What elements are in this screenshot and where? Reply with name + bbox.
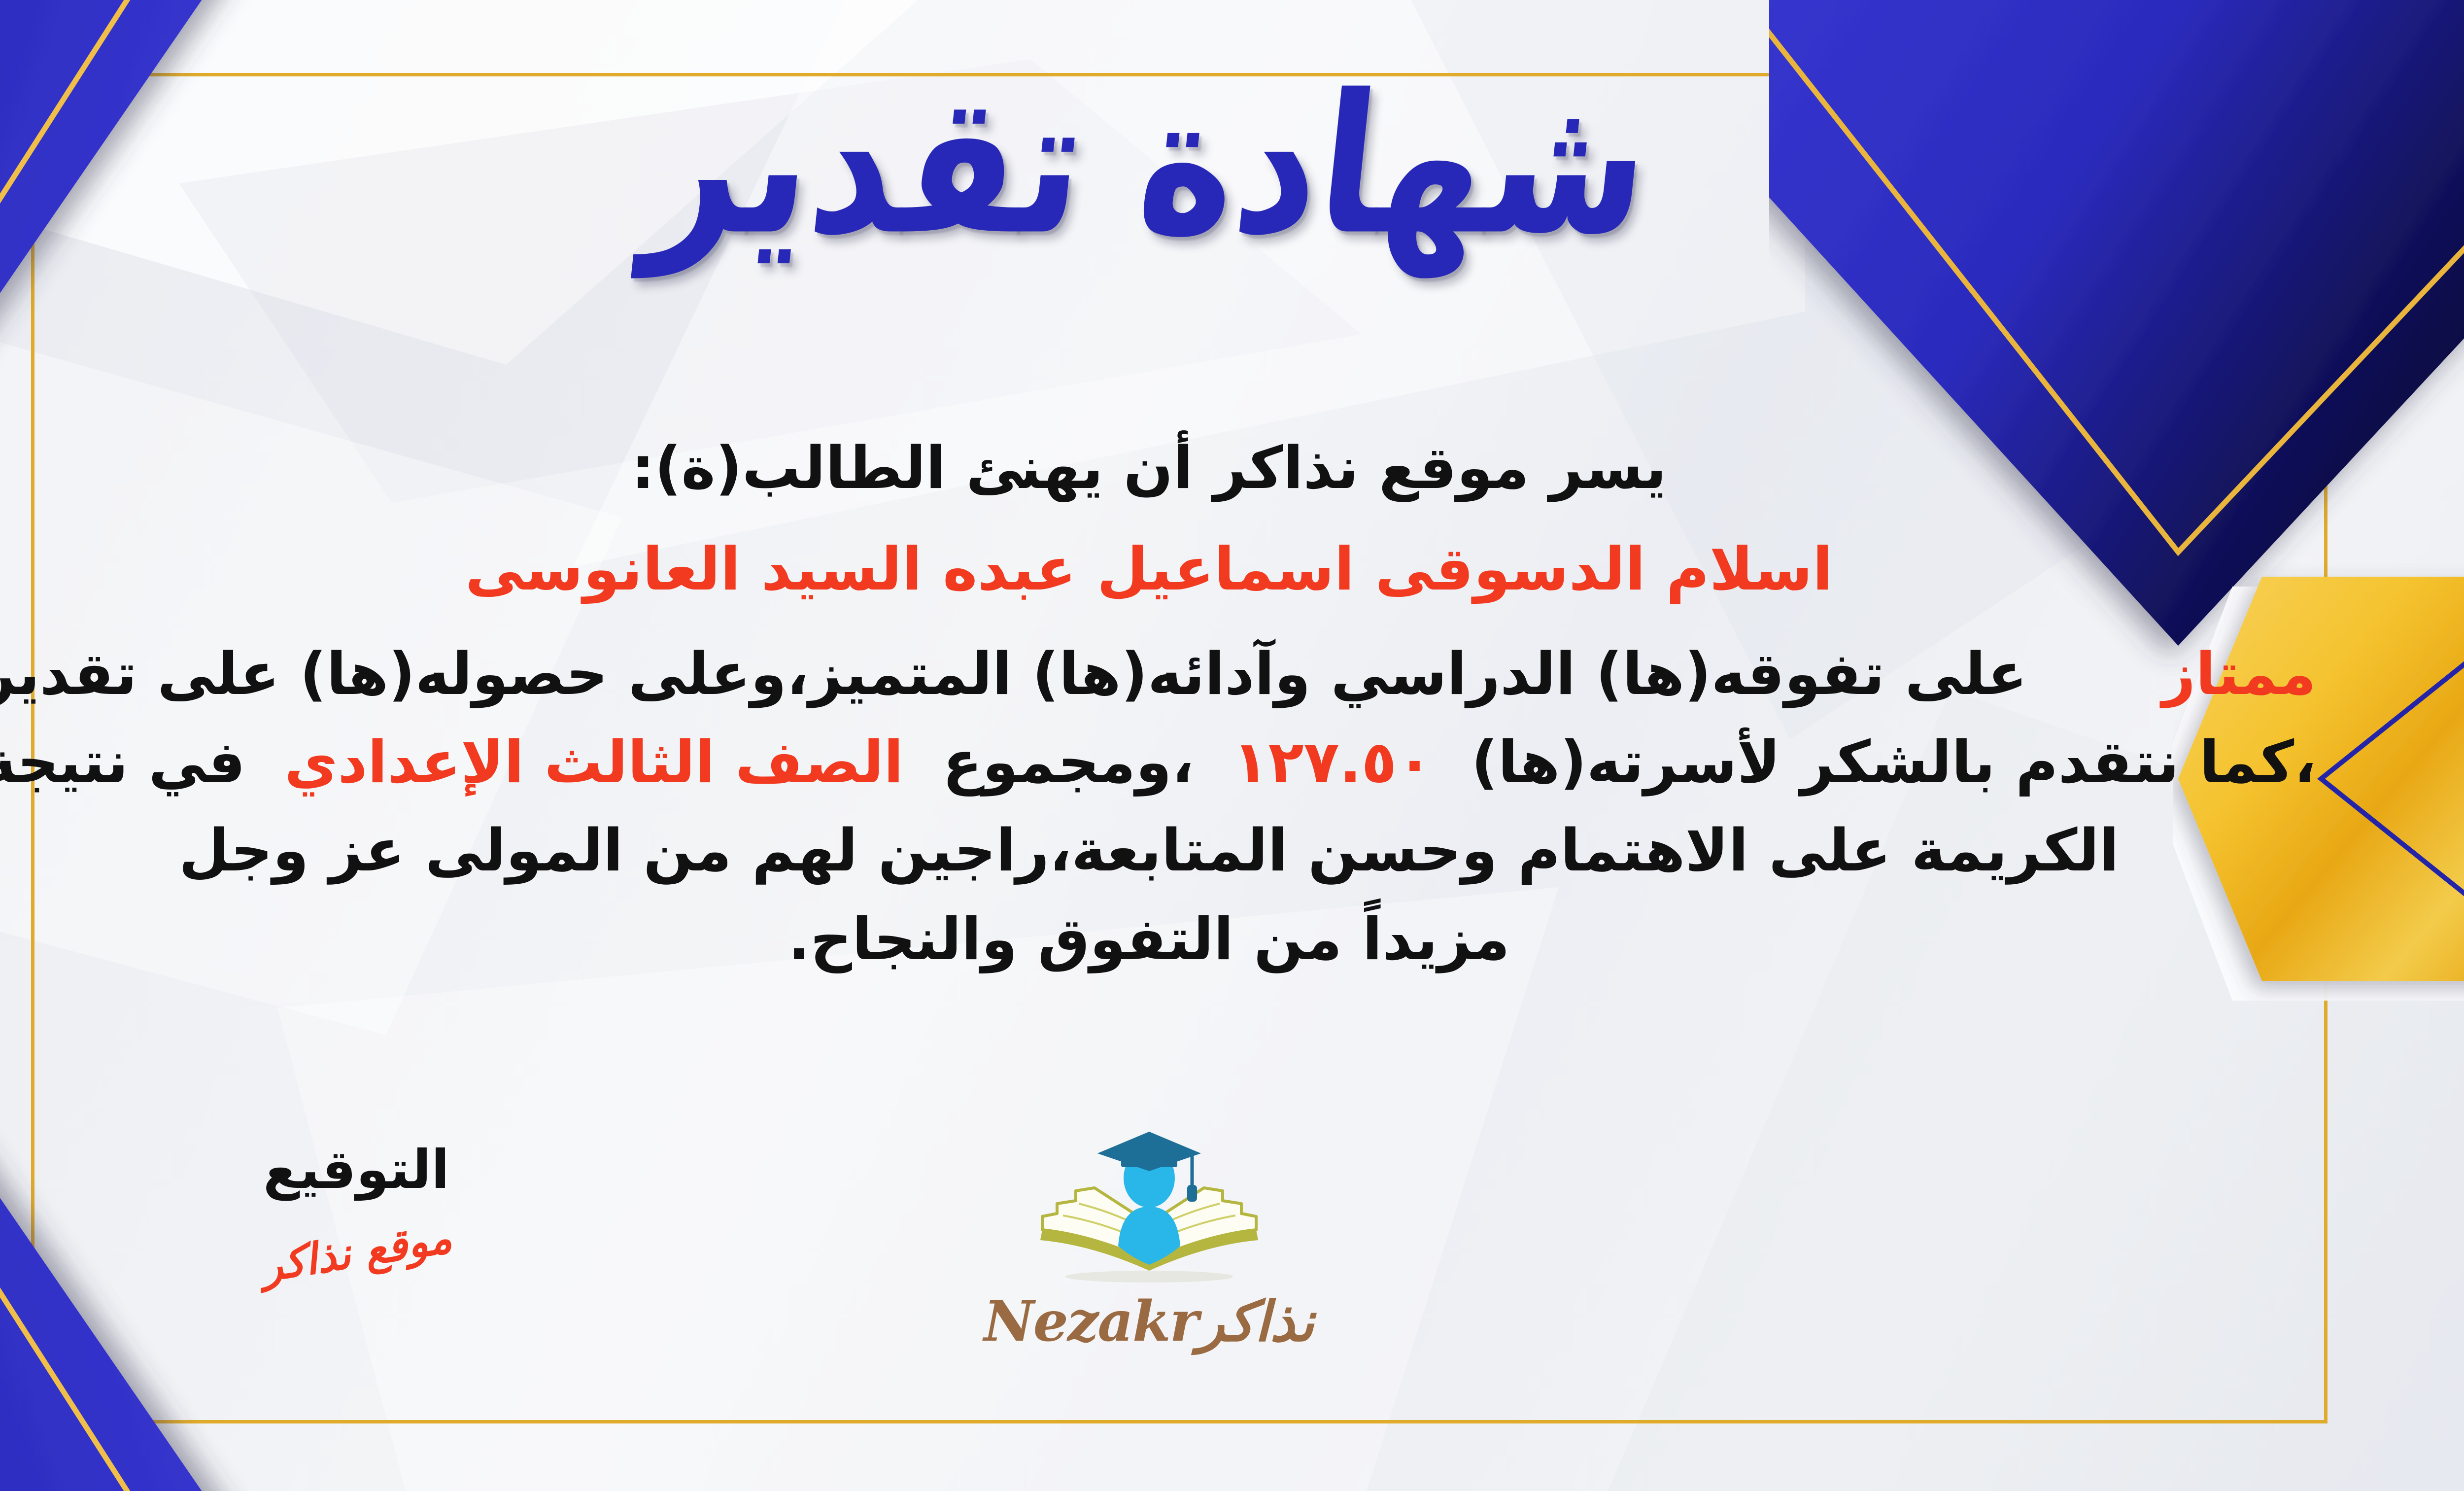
logo-text-ar: نذاكر — [1198, 1289, 1314, 1354]
family-thanks-line: الكريمة على الاهتمام وحسن المتابعة،راجين… — [0, 806, 2316, 895]
grade-level-prefix: في نتيجة — [0, 718, 245, 806]
student-name: اسلام الدسوقى اسماعيل عبده السيد العانوس… — [0, 525, 2316, 615]
grade-and-total-line: في نتيجة الصف الثالث الإعدادي ،ومجموع ١٢… — [0, 718, 2316, 806]
certificate-title-wrap: شهادة تقدير — [0, 84, 2464, 246]
closing-wish-line: مزيداً من التفوق والنجاح. — [0, 895, 2316, 983]
grade-level-value: الصف الثالث الإعدادي — [284, 718, 903, 806]
total-score-value: ١٢٧.٥٠ — [1233, 718, 1433, 806]
grade-rating-value: ممتاز — [2162, 630, 2316, 718]
logo-text-en: Nezakr — [984, 1289, 1198, 1354]
logo-wordmark: نذاكرNezakr — [0, 1294, 2464, 1350]
graduate-book-icon — [1033, 1129, 1265, 1291]
intro-line: يسر موقع نذاكر أن يهنئ الطالب(ة): — [0, 424, 2316, 512]
thanks-suffix: ،كما نتقدم بالشكر لأسرته(ها) — [1472, 718, 2316, 806]
achievement-text: على تفوقه(ها) الدراسي وآدائه(ها) المتميز… — [0, 630, 2027, 718]
achievement-line: على تفوقه(ها) الدراسي وآدائه(ها) المتميز… — [0, 630, 2316, 718]
total-label: ،ومجموع — [943, 718, 1194, 806]
certificate-title: شهادة تقدير — [640, 69, 1659, 261]
certificate-canvas: شهادة تقدير يسر موقع نذاكر أن يهنئ الطال… — [0, 0, 2464, 1491]
certificate-body: يسر موقع نذاكر أن يهنئ الطالب(ة): اسلام … — [0, 424, 2316, 983]
site-logo: نذاكرNezakr — [0, 1129, 2464, 1350]
